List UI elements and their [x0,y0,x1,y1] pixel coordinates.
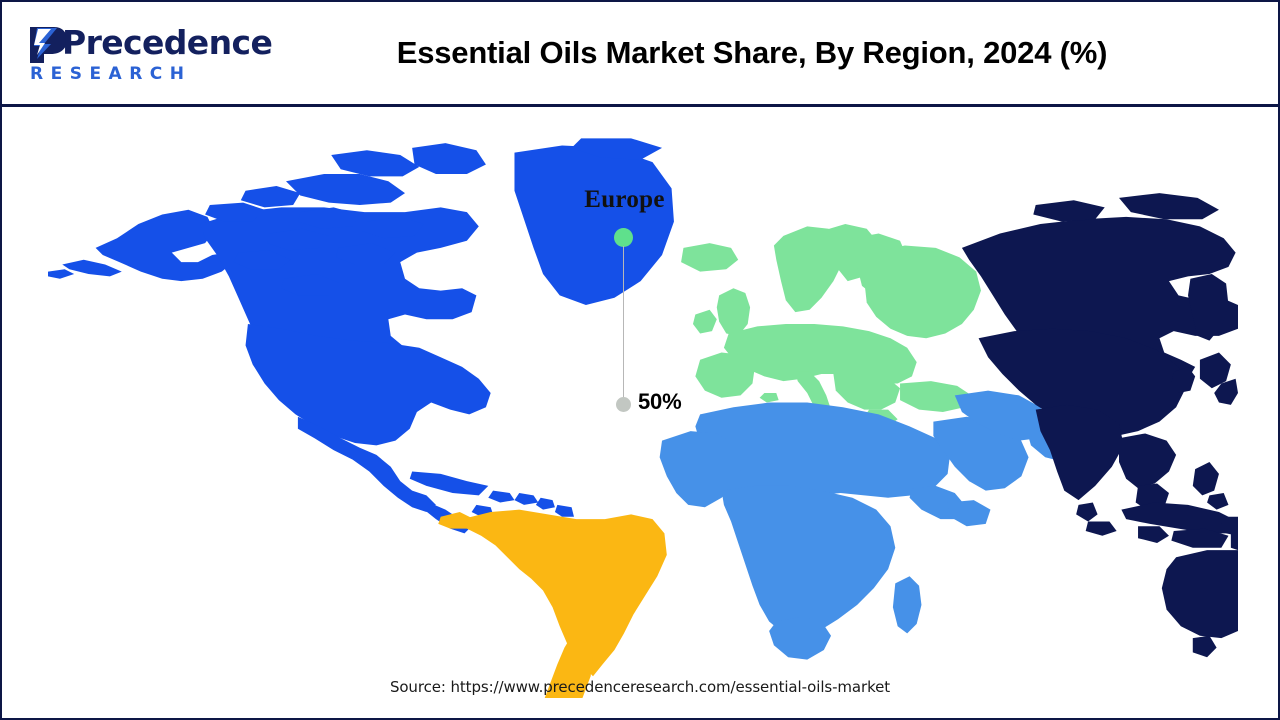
logo-subtitle: RESEARCH [30,64,192,84]
region-shape-oceania[interactable] [1162,550,1238,657]
map-canvas: Europe 50% [2,108,1278,718]
region-shape-latin-america[interactable] [438,510,666,698]
region-shape-middle-east-africa[interactable] [660,391,1079,660]
region-shape-asia-pacific[interactable] [962,193,1238,550]
source-attribution: Source: https://www.precedenceresearch.c… [2,678,1278,696]
region-shape-europe[interactable] [681,224,981,431]
logo-wordmark: Precedence [62,24,272,62]
header-bar: Precedence RESEARCH Essential Oils Marke… [2,2,1278,107]
page-title: Essential Oils Market Share, By Region, … [242,2,1262,104]
world-choropleth-map [48,138,1238,698]
infographic-page: Precedence RESEARCH Essential Oils Marke… [0,0,1280,720]
precedence-research-logo: Precedence RESEARCH [16,24,236,88]
region-shape-north-america[interactable] [48,138,674,533]
